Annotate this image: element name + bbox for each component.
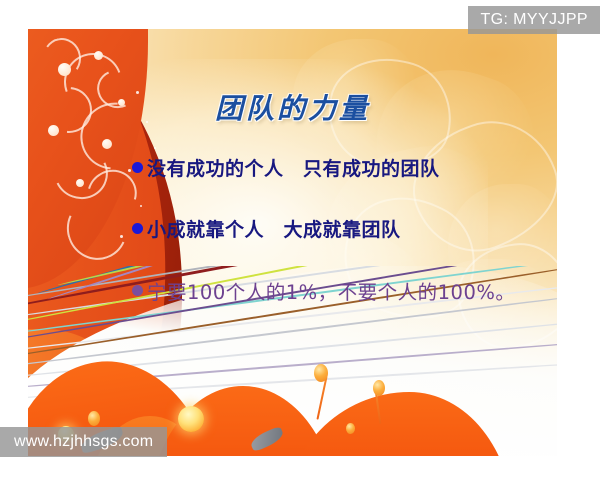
bullet-item: 宁要100个人的1%，不要个人的100%。 — [132, 276, 552, 305]
bullet-text: 宁要100个人的1%，不要个人的100%。 — [147, 276, 515, 305]
bullet-dot-icon — [132, 223, 143, 234]
page-canvas: 团队的力量 没有成功的个人 只有成功的团队 小成就靠个人 大成就靠团队 宁要10… — [0, 0, 600, 480]
bullet-item: 小成就靠个人 大成就靠团队 — [132, 215, 552, 242]
bullet-text: 小成就靠个人 大成就靠团队 — [147, 215, 401, 242]
bullet-text: 没有成功的个人 只有成功的团队 — [147, 154, 440, 181]
bullet-dot-icon — [132, 162, 143, 173]
bullet-item: 没有成功的个人 只有成功的团队 — [132, 154, 552, 181]
slide-title: 团队的力量 — [28, 87, 557, 127]
watermark-top-right: TG: MYYJJPP — [468, 6, 600, 34]
bullet-list: 没有成功的个人 只有成功的团队 小成就靠个人 大成就靠团队 宁要100个人的1%… — [132, 154, 552, 339]
presentation-slide: 团队的力量 没有成功的个人 只有成功的团队 小成就靠个人 大成就靠团队 宁要10… — [28, 29, 557, 456]
bullet-dot-icon — [132, 285, 143, 296]
watermark-bottom-left: www.hzjhhsgs.com — [0, 427, 167, 457]
